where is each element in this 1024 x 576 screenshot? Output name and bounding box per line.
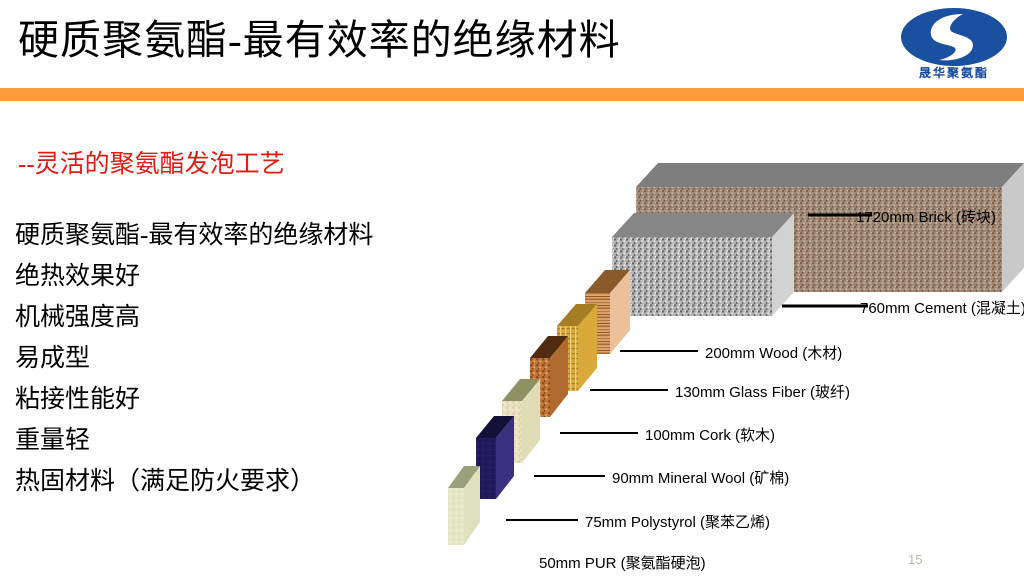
feature-bullet-list: 硬质聚氨酯-最有效率的绝缘材料 绝热效果好 机械强度高 易成型 粘接性能好 重量… — [15, 215, 445, 502]
bar-label-brick: 1720mm Brick (砖块) — [856, 206, 996, 227]
list-item: 易成型 — [15, 338, 445, 379]
bar-polystyrol — [476, 416, 514, 499]
bar-cement — [612, 213, 794, 316]
list-item: 硬质聚氨酯-最有效率的绝缘材料 — [15, 215, 445, 256]
logo-wordmark: 晟华聚氨酯 — [893, 64, 1015, 81]
section-subtitle: --灵活的聚氨酯发泡工艺 — [18, 148, 285, 182]
diagram-canvas — [440, 118, 1024, 558]
list-item: 机械强度高 — [15, 297, 445, 338]
bar-label-cement: 760mm Cement (混凝土) — [860, 297, 1024, 318]
brand-logo: 晟华聚氨酯 — [893, 8, 1015, 86]
list-item: 重量轻 — [15, 420, 445, 461]
list-item: 粘接性能好 — [15, 379, 445, 420]
bar-label-pur: 50mm PUR (聚氨酯硬泡) — [539, 552, 706, 573]
list-item: 绝热效果好 — [15, 256, 445, 297]
page-number: 15 — [908, 552, 922, 567]
slide-header: 硬质聚氨酯-最有效率的绝缘材料 晟华聚氨酯 — [0, 0, 1024, 100]
header-divider-bar — [0, 88, 1024, 101]
bar-label-polystyrol: 75mm Polystyrol (聚苯乙烯) — [585, 511, 770, 532]
material-thickness-diagram: 1720mm Brick (砖块) 760mm Cement (混凝土) 200… — [440, 118, 1024, 558]
page-title: 硬质聚氨酯-最有效率的绝缘材料 — [18, 14, 621, 66]
bar-pur — [448, 466, 480, 545]
blue-s-logo-icon — [901, 8, 1007, 66]
list-item: 热固材料（满足防火要求） — [15, 461, 445, 502]
bar-label-wood: 200mm Wood (木材) — [705, 342, 842, 363]
bar-label-glassfiber: 130mm Glass Fiber (玻纤) — [675, 381, 850, 402]
bar-label-mineralwool: 90mm Mineral Wool (矿棉) — [612, 467, 789, 488]
bar-label-cork: 100mm Cork (软木) — [645, 424, 775, 445]
